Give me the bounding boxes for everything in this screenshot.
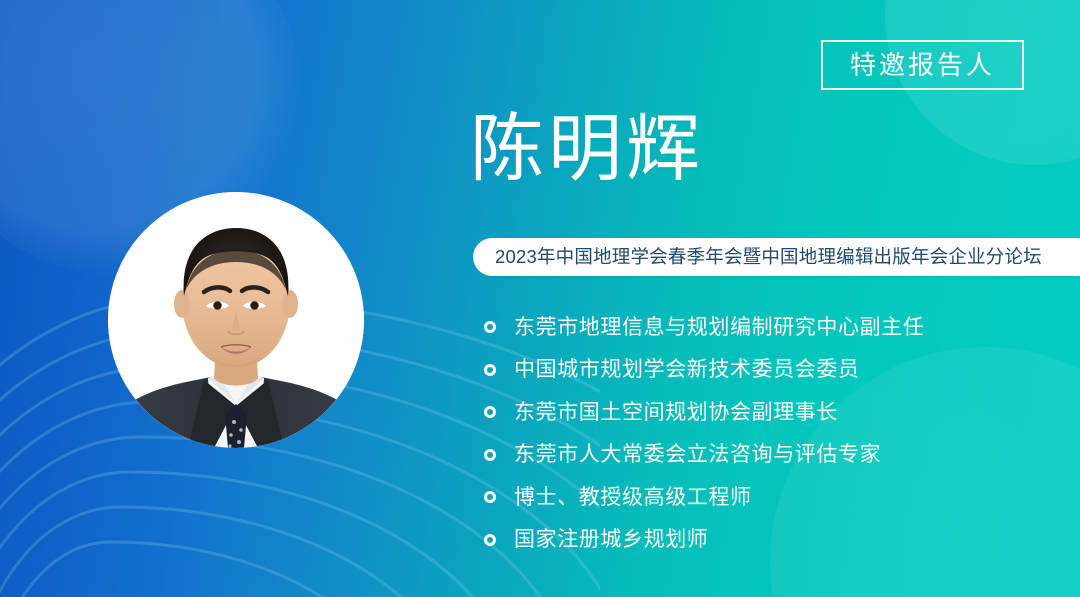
list-item: 东莞市人大常委会立法咨询与评估专家 <box>484 434 1044 477</box>
invited-speaker-badge: 特邀报告人 <box>821 40 1024 90</box>
speaker-portrait <box>108 192 364 448</box>
list-item: 中国城市规划学会新技术委员会委员 <box>484 349 1044 392</box>
bullet-ring-icon <box>484 491 496 503</box>
credential-label: 中国城市规划学会新技术委员会委员 <box>514 359 860 380</box>
credential-label: 东莞市地理信息与规划编制研究中心副主任 <box>514 317 924 338</box>
credential-label: 东莞市人大常委会立法咨询与评估专家 <box>514 444 881 465</box>
bullet-ring-icon <box>484 321 496 333</box>
list-item: 东莞市国土空间规划协会副理事长 <box>484 391 1044 434</box>
bullet-ring-icon <box>484 449 496 461</box>
credential-label: 东莞市国土空间规划协会副理事长 <box>514 402 838 423</box>
portrait-photo <box>108 192 364 448</box>
credential-label: 国家注册城乡规划师 <box>514 529 708 550</box>
speaker-name: 陈明辉 <box>470 112 704 186</box>
event-title: 2023年中国地理学会春季年会暨中国地理编辑出版年会企业分论坛 <box>473 248 1042 267</box>
speaker-poster: 特邀报告人 陈明辉 2023年中国地理学会春季年会暨中国地理编辑出版年会企业分论… <box>0 0 1080 597</box>
list-item: 国家注册城乡规划师 <box>484 519 1044 562</box>
credentials-list: 东莞市地理信息与规划编制研究中心副主任 中国城市规划学会新技术委员会委员 东莞市… <box>484 306 1044 561</box>
badge-label: 特邀报告人 <box>850 52 995 78</box>
bullet-ring-icon <box>484 534 496 546</box>
bullet-ring-icon <box>484 364 496 376</box>
event-title-banner: 2023年中国地理学会春季年会暨中国地理编辑出版年会企业分论坛 <box>473 238 1080 276</box>
list-item: 东莞市地理信息与规划编制研究中心副主任 <box>484 306 1044 349</box>
credential-label: 博士、教授级高级工程师 <box>514 487 752 508</box>
bullet-ring-icon <box>484 406 496 418</box>
list-item: 博士、教授级高级工程师 <box>484 476 1044 519</box>
